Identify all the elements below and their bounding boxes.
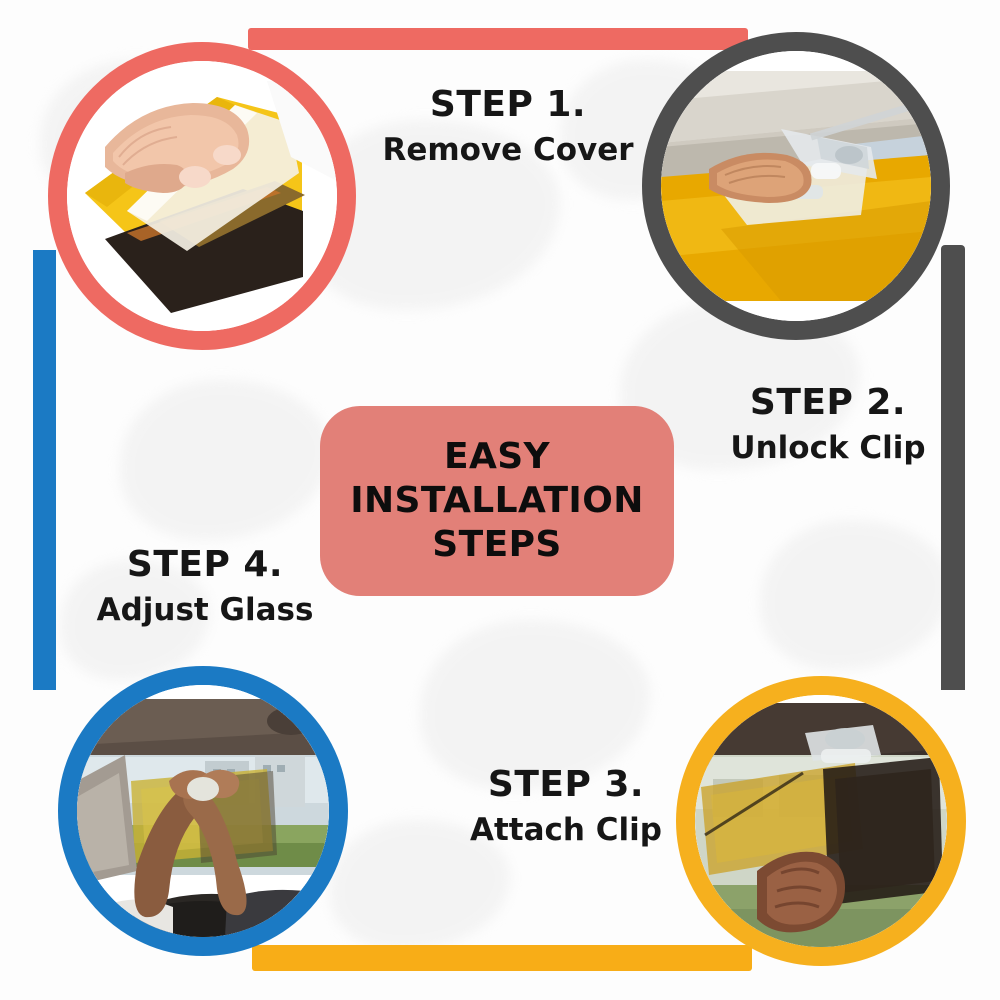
step-2-label: STEP 2. Unlock Clip [688, 382, 968, 466]
step-1-number: STEP 1. [358, 84, 658, 125]
step-2-photo [661, 51, 931, 321]
right-connector [941, 250, 965, 690]
top-connector [248, 28, 748, 50]
step-3-photo-circle [676, 676, 966, 966]
step-3-label: STEP 3. Attach Clip [436, 764, 696, 848]
easy-installation-steps-badge: EASY INSTALLATION STEPS [320, 406, 674, 596]
step-4-photo-circle [58, 666, 348, 956]
badge-line-1: EASY [350, 435, 644, 479]
step-1-photo [67, 61, 337, 331]
step-2-photo-circle [642, 32, 950, 340]
step-4-label: STEP 4. Adjust Glass [60, 544, 350, 628]
step-4-photo [77, 685, 329, 937]
step-1-caption: Remove Cover [358, 133, 658, 168]
bottom-connector [252, 945, 752, 971]
step-3-photo [695, 695, 947, 947]
infographic-poster: STEP 1. Remove Cover [0, 0, 1000, 1000]
step-4-number: STEP 4. [60, 544, 350, 585]
badge-line-3: STEPS [350, 523, 644, 567]
step-2-caption: Unlock Clip [688, 431, 968, 466]
badge-text: EASY INSTALLATION STEPS [350, 435, 644, 567]
step-4-caption: Adjust Glass [60, 593, 350, 628]
step-3-caption: Attach Clip [436, 813, 696, 848]
step-2-number: STEP 2. [688, 382, 968, 423]
left-connector [33, 250, 56, 690]
badge-line-2: INSTALLATION [350, 479, 644, 523]
step-1-label: STEP 1. Remove Cover [358, 84, 658, 168]
step-1-photo-circle [48, 42, 356, 350]
step-3-number: STEP 3. [436, 764, 696, 805]
